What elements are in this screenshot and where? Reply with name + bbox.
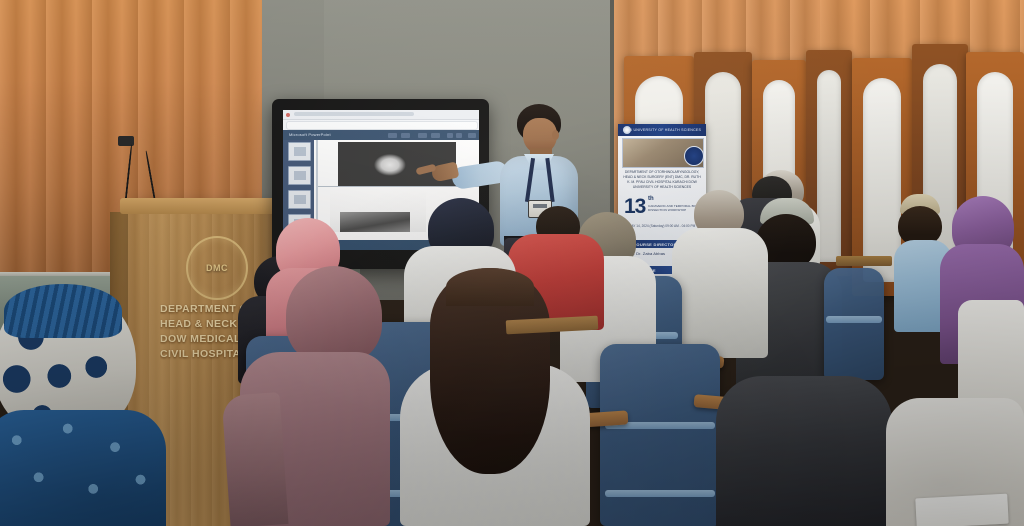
chair (600, 344, 720, 526)
banner-body-text: DEPARTMENT OF OTORHINOLARYNGOLOGY, HEAD … (622, 170, 702, 190)
banner-header: DOW UNIVERSITY OF HEALTH SCIENCES (618, 124, 706, 136)
ribbon-button-6[interactable] (456, 133, 462, 138)
ribbon-button-3[interactable] (418, 133, 427, 138)
browser-address-bar[interactable] (286, 121, 478, 130)
chair (824, 268, 884, 380)
university-logo-icon (623, 126, 631, 134)
browser-tab-title (294, 112, 414, 116)
person-mauve-hijab-shawl (221, 392, 288, 526)
banner-edition-suffix: th (648, 196, 654, 202)
ribbon-button-5[interactable] (447, 133, 453, 138)
slide-thumbnail[interactable] (288, 190, 311, 209)
person-front-right-body (716, 376, 892, 526)
crest-label: DMC (206, 263, 228, 273)
slide-thumbnail[interactable] (288, 142, 311, 161)
person-blue-print-hijab-band (4, 284, 122, 338)
slide-divider (318, 186, 479, 187)
presentation-app-title: Microsoft PowerPoint (289, 132, 331, 137)
conference-photo: DMC DEPARTMENT OF HEAD & NECK SU DOW MED… (0, 0, 1024, 526)
browser-tab-favicon-icon (286, 113, 290, 117)
slide-thumbnail[interactable] (288, 166, 311, 185)
ribbon-button-4[interactable] (431, 133, 440, 138)
handout-paper (915, 494, 1008, 526)
banner-seal-icon (684, 146, 704, 166)
person-long-hair-white-head (446, 268, 534, 306)
banner-dates: MAY 14, 2024 (Saturday) 09:00 AM - 04:00… (622, 224, 702, 228)
dmc-crest-emblem: DMC (186, 236, 248, 300)
next-slide-image (340, 212, 410, 232)
person-white-coat-1-body (672, 228, 768, 358)
person-mauve-hijab-head (286, 266, 382, 364)
presenter-ear (552, 130, 559, 140)
ribbon-button-1[interactable] (388, 133, 397, 138)
banner-edition-number: 13 (624, 196, 645, 217)
desk-edge (836, 256, 892, 266)
ribbon-button-7[interactable] (468, 133, 476, 138)
ribbon-button-2[interactable] (401, 133, 410, 138)
person-blue-print-hijab-body (0, 410, 166, 526)
